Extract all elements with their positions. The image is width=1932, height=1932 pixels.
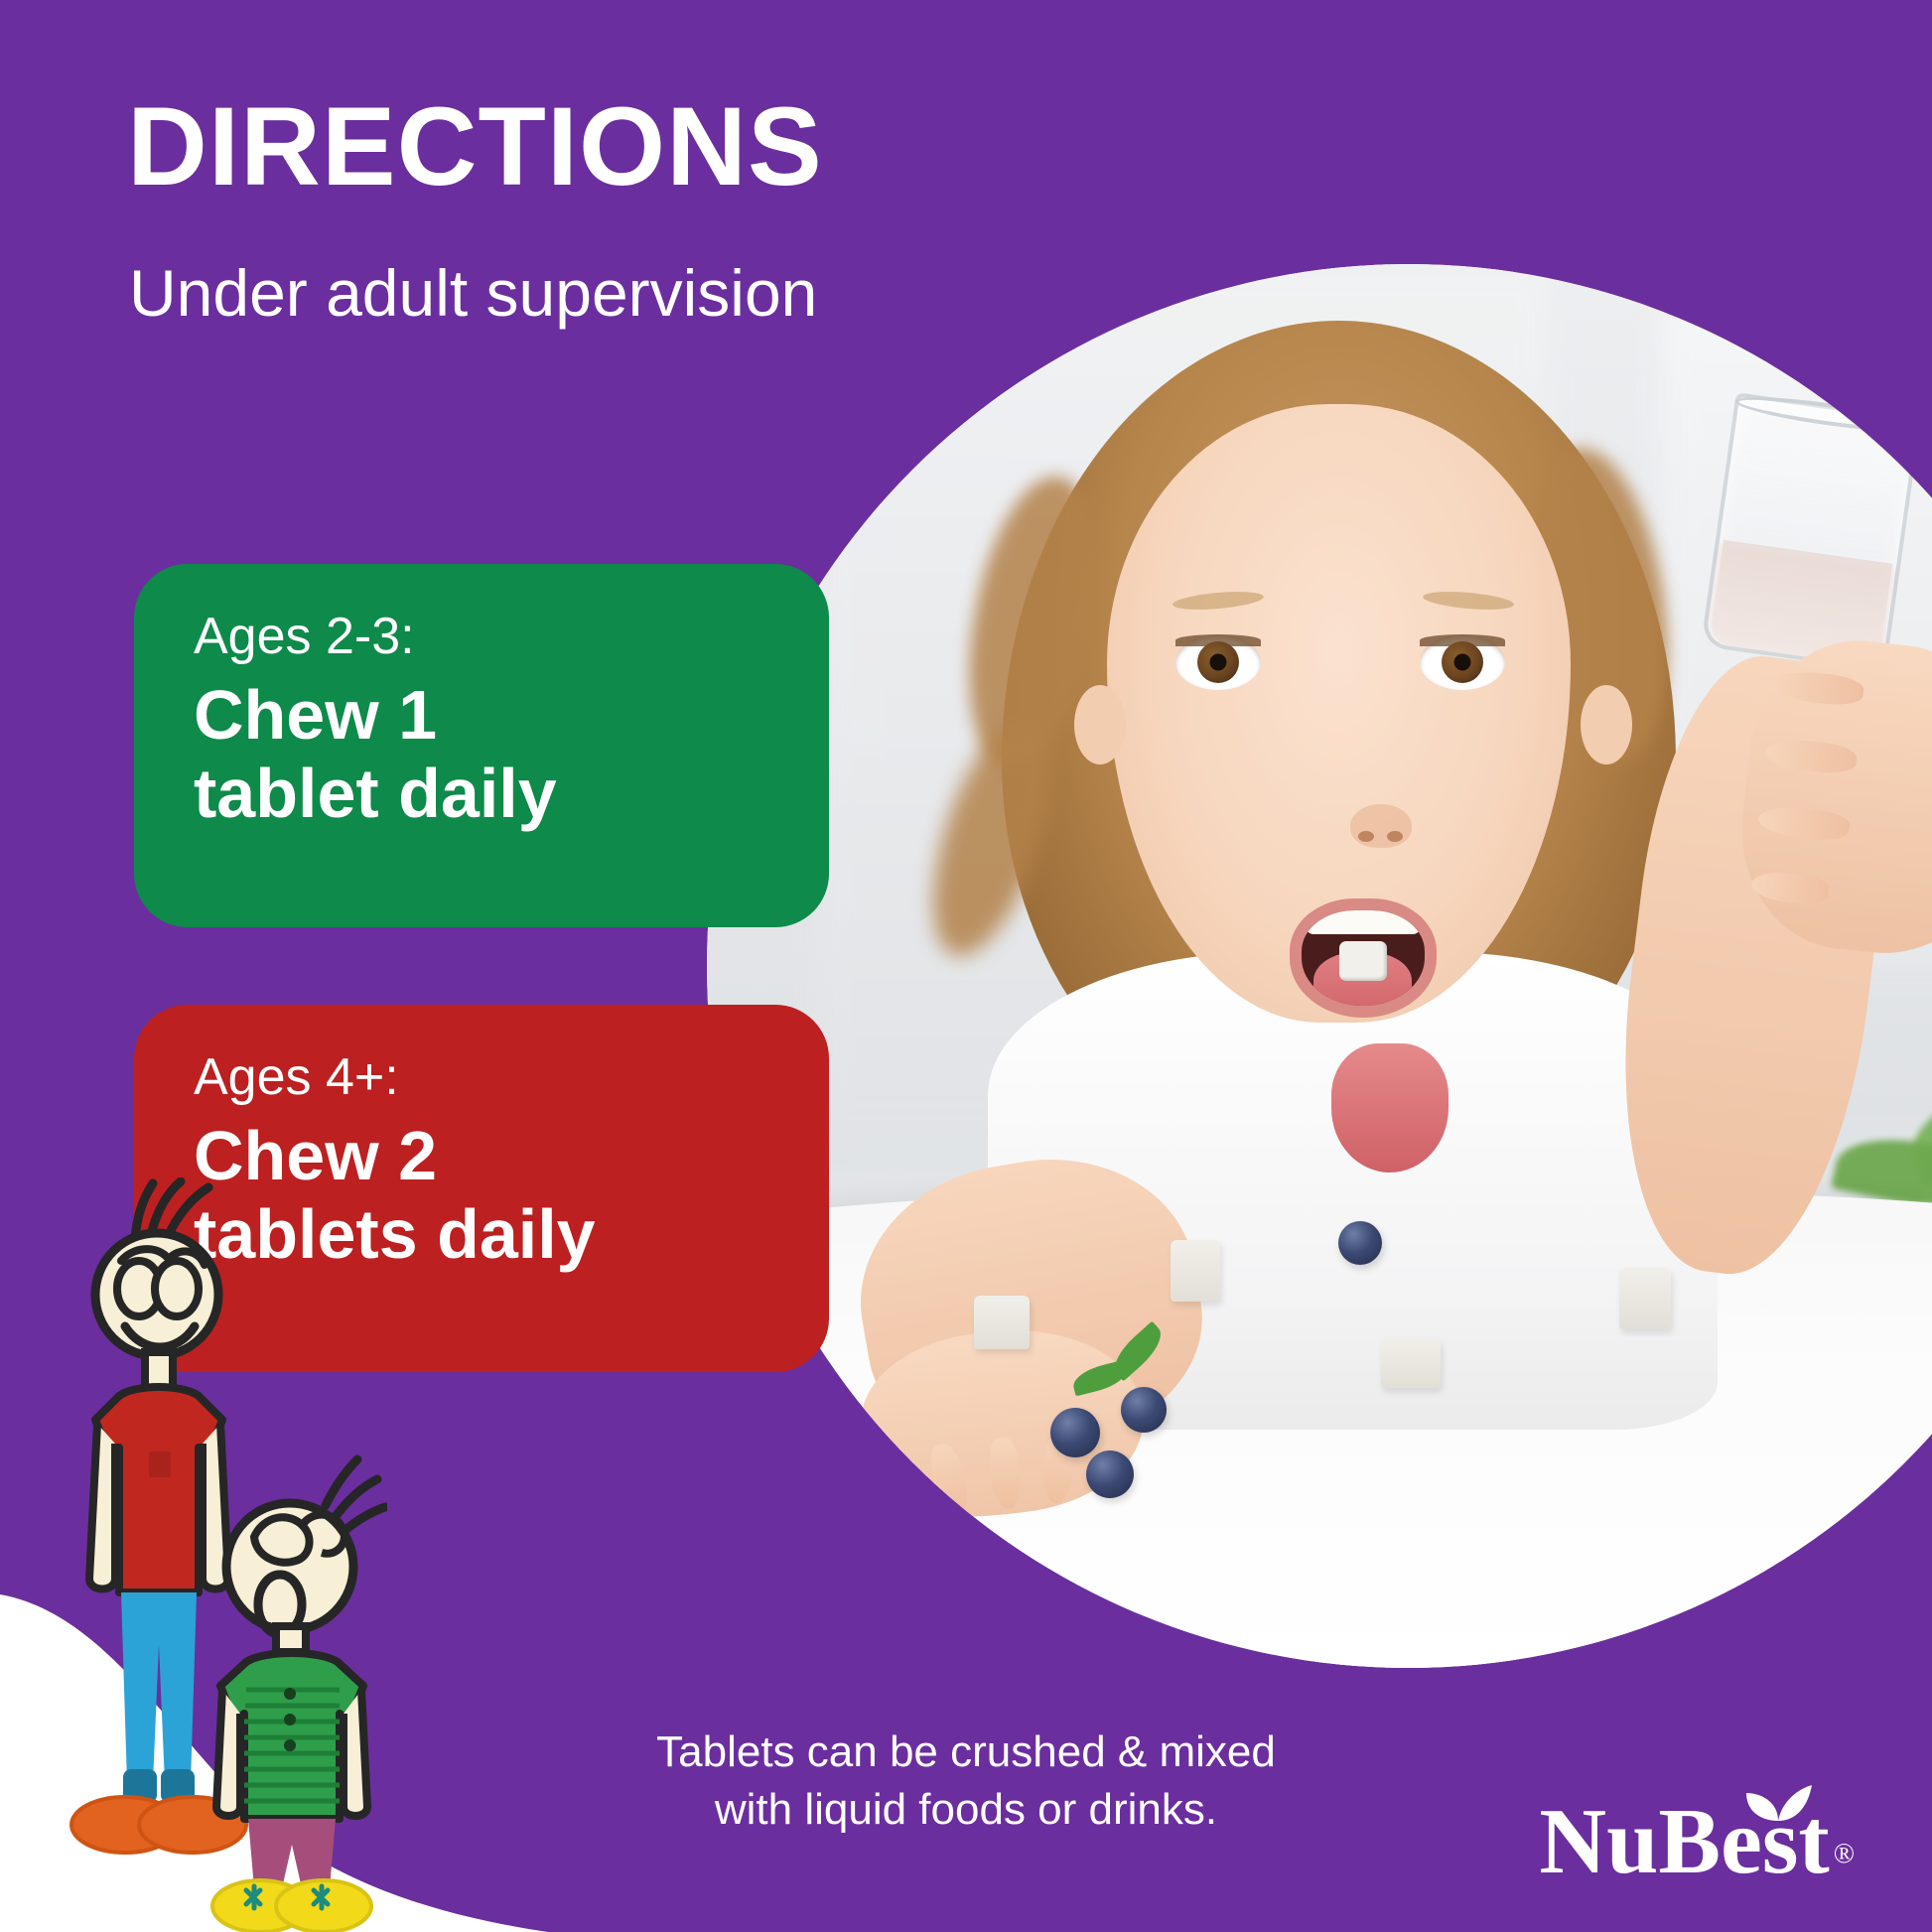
dose-age-label: Ages 2-3: [194, 610, 829, 664]
product-photo-circle [707, 264, 1932, 1668]
shirt-pocket [149, 1451, 171, 1477]
nose [1350, 804, 1412, 848]
ear [1581, 685, 1632, 764]
mascot-short-boy [212, 1459, 385, 1932]
mascot-characters [60, 1177, 387, 1932]
chewable-tablet [1381, 1338, 1441, 1388]
dose-age-label: Ages 4+: [194, 1050, 829, 1105]
eye [155, 1261, 199, 1316]
blueberry [1121, 1387, 1167, 1433]
dose-instruction: Chew 1 tablet daily [194, 676, 829, 835]
nostril [1387, 831, 1403, 842]
finger [1750, 868, 1831, 905]
tongue-extended [1331, 1043, 1449, 1173]
dose-badge-ages-2-3: Ages 2-3: Chew 1 tablet daily [134, 564, 829, 927]
finger [869, 1446, 928, 1523]
iris [1442, 641, 1483, 683]
brand-logo[interactable]: NuBest ® [1539, 1797, 1855, 1886]
pupil [1210, 654, 1227, 671]
neck [276, 1626, 306, 1652]
chewable-tablet [1171, 1240, 1220, 1302]
finger [1757, 804, 1852, 843]
purple-shorts [248, 1819, 336, 1888]
child-figure [707, 264, 1932, 1668]
brand-name: NuBest [1539, 1797, 1829, 1886]
page-subtitle: Under adult supervision [129, 260, 817, 326]
chewable-tablet [1619, 1268, 1671, 1329]
finger [987, 1436, 1024, 1510]
page-title: DIRECTIONS [127, 91, 823, 203]
shirt-button [284, 1739, 296, 1751]
chewable-tablet [974, 1296, 1030, 1349]
glass-rim [1733, 391, 1921, 439]
blue-jeans [121, 1592, 197, 1783]
arm [89, 1424, 115, 1589]
shirt-button [284, 1688, 296, 1700]
finger [925, 1440, 974, 1516]
dose-instruction-line-2: tablet daily [194, 755, 557, 832]
finger [1771, 668, 1865, 707]
dose-instruction-line-1: Chew 1 [194, 676, 437, 754]
blueberry [1086, 1450, 1134, 1498]
registered-trademark-icon: ® [1834, 1839, 1855, 1870]
nostril [1358, 831, 1374, 842]
leaf-icon [1744, 1777, 1812, 1823]
water-glass [1701, 393, 1921, 673]
open-mouth [1290, 898, 1437, 1018]
pupil [1454, 654, 1471, 671]
poster-canvas: DIRECTIONS Under adult supervision Ages … [0, 0, 1932, 1932]
finger [1764, 736, 1859, 774]
teeth [1306, 910, 1422, 934]
shirt-button [284, 1714, 296, 1725]
iris [1197, 641, 1239, 683]
chewable-tablet-on-tongue [1339, 941, 1387, 981]
